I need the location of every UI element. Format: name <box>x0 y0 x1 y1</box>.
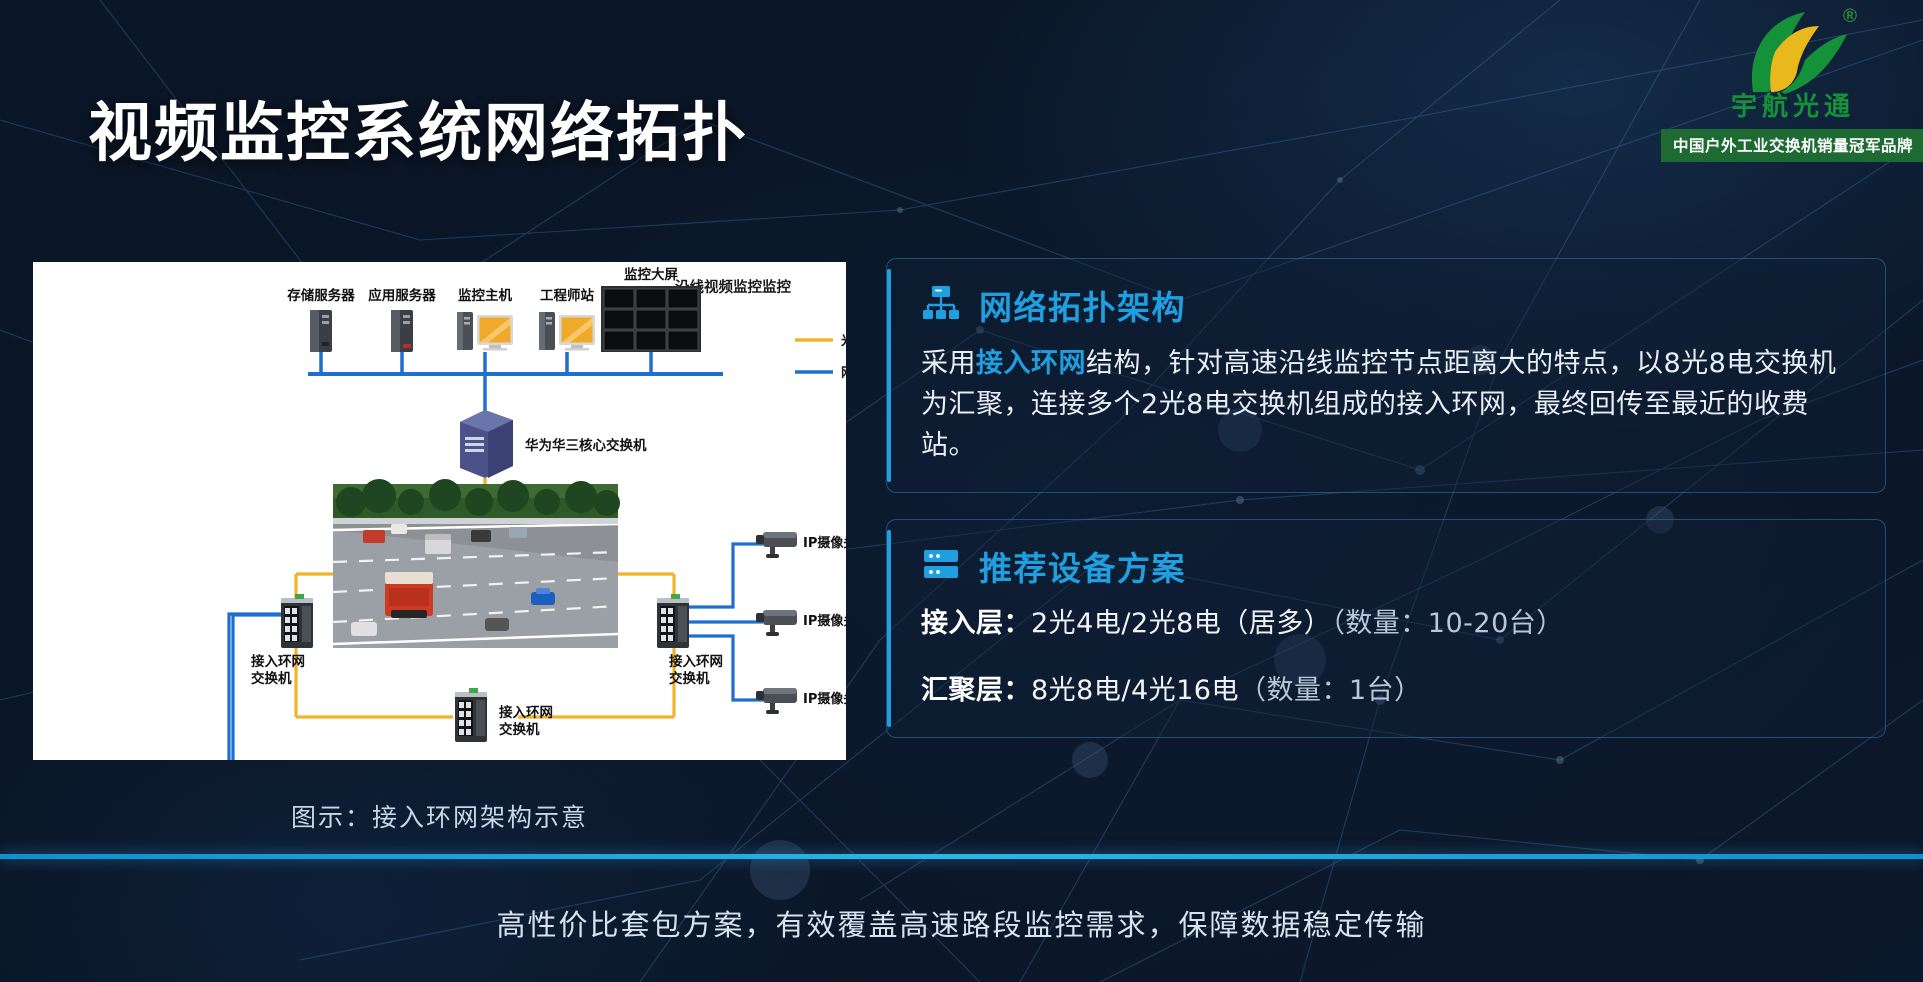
spec-label-access: 接入层： <box>921 608 1031 639</box>
highway-photo <box>333 479 620 648</box>
spec-qty-aggregation: （数量：1台） <box>1239 675 1422 706</box>
access-switch-bottom-label-line1: 接入环网 <box>499 704 553 721</box>
brand-name: 宇航光通 <box>1731 94 1855 120</box>
info-panel: 网络拓扑架构 采用接入环网结构，针对高速沿线监控节点距离大的特点，以8光8电交换… <box>886 258 1886 738</box>
registered-mark: ® <box>1843 6 1857 28</box>
card-title-devices: 推荐设备方案 <box>979 542 1186 590</box>
spec-value-aggregation: 8光8电/4光16电 <box>1031 675 1239 706</box>
card-network-topology: 网络拓扑架构 采用接入环网结构，针对高速沿线监控节点距离大的特点，以8光8电交换… <box>886 258 1886 493</box>
legend-label-ethernet: 网线 <box>841 365 846 381</box>
access-switch-bottom-label-line2: 交换机 <box>499 721 540 738</box>
camera-label-right-3: IP摄像头 <box>803 691 846 707</box>
access-switch-left-label-line2: 交换机 <box>251 670 292 687</box>
tower-server-icon-app <box>391 310 413 352</box>
core-switch-icon <box>460 410 513 478</box>
access-switch-right-label-line2: 交换机 <box>669 670 710 687</box>
body-text-prefix: 采用 <box>921 348 976 379</box>
industrial-switch-icon-access-right <box>657 594 689 648</box>
core-switch-label: 华为华三核心交换机 <box>525 437 647 454</box>
card-title-topology: 网络拓扑架构 <box>979 281 1186 329</box>
access-switch-left-label-line1: 接入环网 <box>251 653 305 670</box>
device-label-video-wall: 监控大屏 <box>624 266 678 283</box>
workstation-icon-engineer-station <box>539 312 595 351</box>
brand-logo: ® 宇航光通 中国户外工业交换机销量冠军品牌 <box>1673 4 1913 169</box>
spec-value-access: 2光4电/2光8电（居多） <box>1031 608 1331 639</box>
industrial-switch-icon-access-bottom <box>455 688 487 742</box>
spec-access-layer: 接入层：2光4电/2光8电（居多）（数量：10-20台） <box>921 604 1857 645</box>
server-stack-icon <box>921 544 961 589</box>
spec-aggregation-layer: 汇聚层：8光8电/4光16电（数量：1台） <box>921 671 1857 712</box>
network-topology-diagram: 沿线视频监控监控 光纤 网线 存储服务器 应用服务器 监控主机 工程师站 <box>33 262 846 760</box>
spec-label-aggregation: 汇聚层： <box>921 675 1031 706</box>
tower-server-icon-storage <box>310 310 332 352</box>
page-title: 视频监控系统网络拓扑 <box>88 82 748 174</box>
legend-label-fiber: 光纤 <box>840 333 846 349</box>
device-label-engineer-station: 工程师站 <box>540 287 594 304</box>
spec-qty-access: （数量：10-20台） <box>1331 608 1563 639</box>
diagram-caption: 图示：接入环网架构示意 <box>33 798 846 834</box>
card-header: 推荐设备方案 <box>921 542 1857 590</box>
section-divider <box>0 854 1923 859</box>
industrial-switch-icon-access-left <box>281 594 313 648</box>
sitemap-icon <box>921 283 961 328</box>
footer-text: 高性价比套包方案，有效覆盖高速路段监控需求，保障数据稳定传输 <box>0 902 1923 944</box>
body-text-highlight: 接入环网 <box>976 348 1086 379</box>
device-label-app-server: 应用服务器 <box>368 287 436 304</box>
access-switch-right-label-line1: 接入环网 <box>669 653 723 670</box>
card-recommended-devices: 推荐设备方案 接入层：2光4电/2光8电（居多）（数量：10-20台） 汇聚层：… <box>886 519 1886 738</box>
workstation-icon-monitor-host <box>457 312 513 351</box>
camera-label-right-1: IP摄像头 <box>803 535 846 551</box>
camera-label-right-2: IP摄像头 <box>803 613 846 629</box>
device-label-storage-server: 存储服务器 <box>287 287 355 304</box>
video-wall-icon <box>601 286 701 352</box>
card-header: 网络拓扑架构 <box>921 281 1857 329</box>
device-label-monitor-host: 监控主机 <box>458 287 512 304</box>
card-body-topology: 采用接入环网结构，针对高速沿线监控节点距离大的特点，以8光8电交换机为汇聚，连接… <box>921 343 1857 466</box>
logo-leaf-icon: ® <box>1723 4 1863 96</box>
brand-banner: 中国户外工业交换机销量冠军品牌 <box>1661 129 1923 162</box>
